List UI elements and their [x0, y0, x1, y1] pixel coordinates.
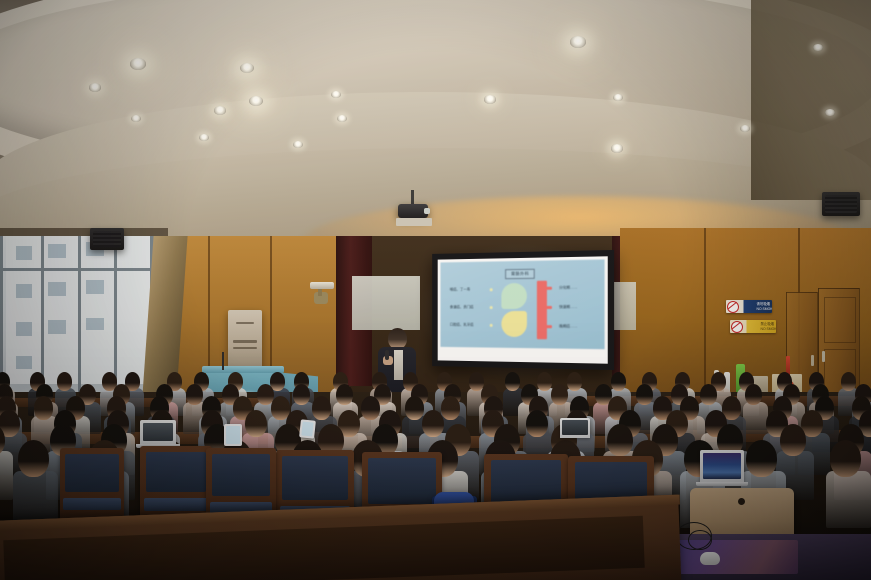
audience-torso: [0, 451, 13, 500]
chair-seat: [144, 498, 208, 511]
no-smoking-icon: [727, 301, 739, 313]
ceiling-downlight: [249, 96, 263, 106]
exterior-window: [48, 244, 66, 258]
cable-coil: [688, 530, 712, 550]
audience-head: [422, 410, 444, 437]
laptop[interactable]: [700, 450, 744, 482]
laptop-screen: [703, 453, 741, 479]
audience-head: [441, 396, 460, 420]
audience-head: [746, 440, 777, 477]
chair[interactable]: [140, 446, 212, 522]
audience-head: [405, 396, 424, 420]
slide-red-tab: [547, 325, 552, 328]
ac-vent: [233, 347, 257, 349]
audience-head: [830, 440, 861, 477]
tablet[interactable]: [299, 419, 316, 438]
slide-title: 胃肠外科: [505, 269, 535, 279]
lectern-top: [202, 366, 284, 373]
screen-surface: 胃肠外科 喉癌、丁一寿 食道癌、贲门癌 口腔癌、乳牙癌 分化期…… 快速期…… …: [438, 256, 608, 363]
tablet-screen: [226, 426, 240, 444]
exterior-window: [16, 246, 32, 260]
audience-head: [611, 372, 626, 391]
ceiling-downlight: [240, 63, 254, 73]
audience-head: [245, 410, 267, 437]
wall-speaker-right: [822, 192, 860, 216]
wall-speaker-left: [90, 228, 124, 250]
audience-head: [361, 396, 380, 420]
ceiling-downlight: [611, 144, 623, 153]
audience-head: [700, 384, 717, 405]
slide-right-item: 晚期癌……: [559, 324, 577, 329]
slide-red-tab: [547, 306, 552, 309]
window-transom: [0, 268, 168, 271]
laptop[interactable]: [140, 420, 176, 444]
whiteboard-left: [352, 276, 420, 330]
jacket-button: [738, 498, 745, 505]
audience-head: [607, 424, 633, 456]
door-panel: [824, 297, 856, 343]
slide-green-shape: [501, 283, 527, 309]
laptop-screen: [562, 420, 588, 435]
slide-bullet-icon: [490, 306, 493, 309]
audience-head: [551, 384, 568, 405]
handheld-microphone: [385, 350, 389, 360]
audience-head: [537, 372, 552, 391]
audience-head: [34, 396, 53, 420]
ceiling-downlight: [214, 106, 226, 115]
slide-left-item: 喉癌、丁一寿: [450, 287, 470, 292]
door-handle[interactable]: [822, 351, 825, 362]
computer-mouse[interactable]: [700, 552, 720, 565]
projection-screen: 胃肠外科 喉癌、丁一寿 食道癌、贲门癌 口腔癌、乳牙癌 分化期…… 快速期…… …: [432, 250, 614, 370]
ceiling: [0, 0, 871, 252]
no-smoking-icon: [731, 321, 743, 333]
chair[interactable]: [60, 448, 124, 520]
audience-head: [312, 396, 331, 420]
slide-left-item: 口腔癌、乳牙癌: [450, 323, 474, 328]
chair-seat: [63, 498, 121, 510]
speaker-grille: [825, 195, 857, 213]
chair-back-pad: [146, 452, 206, 492]
chair-back-pad: [212, 454, 270, 496]
ceiling-downlight: [130, 58, 146, 70]
window-mullion: [78, 228, 81, 398]
ceiling-downlight: [484, 95, 496, 104]
audience-head: [18, 440, 49, 477]
tablet[interactable]: [224, 424, 242, 446]
audience-head: [745, 384, 762, 405]
slide-bullet-icon: [490, 324, 493, 327]
audience-head: [505, 372, 520, 391]
audience-head: [57, 372, 72, 391]
sign-text-en: NO SMOKING: [755, 307, 772, 311]
laptop-base: [696, 482, 748, 486]
ceiling-downlight: [570, 36, 586, 48]
ac-vent: [233, 340, 257, 343]
chair-back-pad: [282, 456, 348, 500]
audience-head: [636, 384, 653, 405]
exterior-window: [16, 322, 32, 336]
window-mullion: [114, 228, 117, 398]
audience-head: [186, 384, 203, 405]
slide-red-bar: [537, 281, 547, 340]
slide-bullet-icon: [490, 288, 493, 291]
exterior-window: [48, 320, 66, 334]
whiteboard-right: [612, 282, 636, 330]
projector-lens: [424, 208, 430, 214]
door-handle[interactable]: [811, 355, 814, 366]
microphone-stand: [222, 352, 224, 370]
window-wall: [0, 228, 168, 398]
security-camera-icon: [310, 282, 334, 289]
no-smoking-sign-yellow: 禁止吸烟 NO SMOKING: [730, 320, 776, 333]
projector-mount-plate: [396, 218, 432, 226]
exterior-window: [48, 282, 66, 296]
exterior-window: [16, 284, 32, 298]
audience-torso: [743, 402, 768, 434]
lecture-hall-photo: 胃肠外科 喉癌、丁一寿 食道癌、贲门癌 口腔癌、乳牙癌 分化期…… 快速期…… …: [0, 0, 871, 580]
audience-head: [293, 384, 310, 405]
audience-head: [526, 410, 548, 437]
tablet-screen: [301, 421, 313, 436]
exterior-window: [86, 280, 104, 294]
audience-torso: [826, 471, 871, 528]
audience-head: [567, 372, 582, 391]
slide-content: 胃肠外科 喉癌、丁一寿 食道癌、贲门癌 口腔癌、乳牙癌 分化期…… 快速期…… …: [440, 259, 604, 349]
slide-yellow-shape: [501, 311, 527, 337]
chair-back-pad: [65, 454, 119, 492]
slide-red-tab: [547, 287, 552, 290]
presenter-head: [388, 328, 407, 349]
audience-head: [841, 372, 856, 391]
slide-right-item: 分化期……: [559, 285, 577, 290]
speaker-grille: [93, 231, 121, 247]
sign-text-en: NO SMOKING: [759, 327, 776, 331]
window-head-frame: [0, 228, 168, 236]
audience-head: [336, 384, 353, 405]
slide-right-item: 快速期……: [559, 305, 577, 310]
laptop[interactable]: [560, 418, 590, 438]
ceiling-right-shadow: [751, 0, 871, 200]
camera-arm: [318, 288, 322, 296]
audience-head: [780, 424, 806, 456]
chair-back-pad: [368, 458, 436, 504]
exterior-window: [86, 318, 104, 330]
presenter-shirt: [394, 350, 403, 380]
ceiling-downlight: [89, 83, 101, 92]
laptop-screen: [143, 423, 173, 441]
ac-display: [236, 322, 254, 324]
exterior-window: [16, 356, 32, 369]
no-smoking-sign-blue: 请勿吸烟 NO SMOKING: [726, 300, 772, 313]
slide-left-item: 食道癌、贲门癌: [450, 305, 474, 310]
